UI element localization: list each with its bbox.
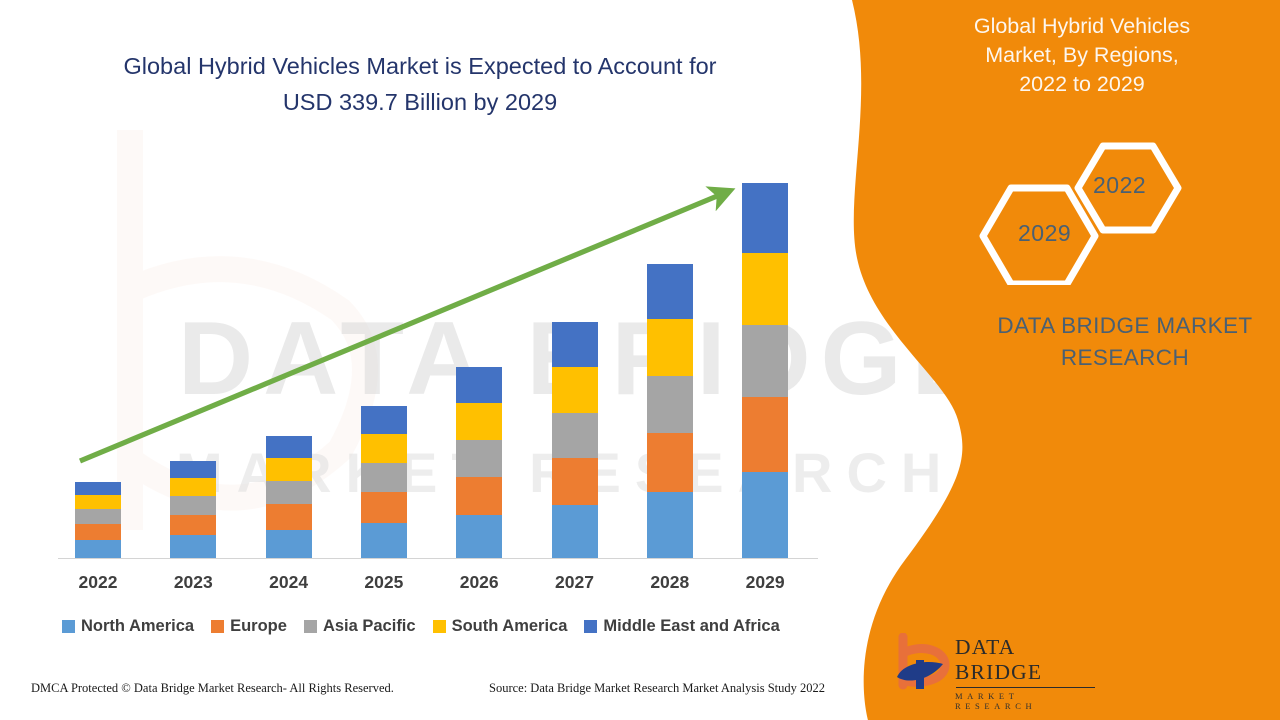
chart-legend: North AmericaEuropeAsia PacificSouth Ame…: [62, 617, 780, 636]
bar-segment[interactable]: [170, 478, 216, 496]
hexagon-badges: [975, 140, 1185, 285]
bar-segment[interactable]: [170, 515, 216, 535]
brand-name: DATA BRIDGE MARKET RESEARCH: [945, 310, 1280, 374]
bar-column[interactable]: [170, 461, 216, 559]
footer-source-note: Source: Data Bridge Market Research Mark…: [489, 681, 825, 696]
bar-column[interactable]: [75, 482, 121, 558]
bar-segment[interactable]: [552, 322, 598, 366]
x-axis-label: 2024: [251, 572, 327, 593]
bar-segment[interactable]: [552, 458, 598, 505]
bar-segment[interactable]: [361, 523, 407, 558]
bar-segment[interactable]: [552, 413, 598, 459]
bar-segment[interactable]: [361, 492, 407, 523]
bar-segment[interactable]: [75, 509, 121, 523]
bar-series-container: [0, 0, 860, 600]
bar-column[interactable]: [742, 183, 788, 558]
legend-label: Middle East and Africa: [603, 617, 779, 636]
panel-title-line-3: 2022 to 2029: [902, 70, 1262, 99]
x-axis-label: 2026: [441, 572, 517, 593]
legend-item[interactable]: South America: [433, 617, 568, 636]
legend-label: North America: [81, 617, 194, 636]
x-axis-labels: 20222023202420252026202720282029: [0, 572, 860, 598]
bar-column[interactable]: [361, 406, 407, 558]
panel-title-line-1: Global Hybrid Vehicles: [902, 12, 1262, 41]
bar-segment[interactable]: [742, 472, 788, 558]
bar-segment[interactable]: [266, 436, 312, 458]
x-axis-label: 2023: [155, 572, 231, 593]
legend-label: Asia Pacific: [323, 617, 416, 636]
infographic-root: DATA BRIDGE MARKET RESEARCH Global Hybri…: [0, 0, 1280, 720]
bar-segment[interactable]: [266, 481, 312, 505]
bar-segment[interactable]: [647, 376, 693, 432]
bar-segment[interactable]: [742, 325, 788, 397]
bar-segment[interactable]: [456, 367, 502, 402]
hexagon-start-year-label: 2022: [1093, 172, 1146, 199]
bar-segment[interactable]: [552, 505, 598, 557]
bar-segment[interactable]: [742, 253, 788, 326]
bar-segment[interactable]: [266, 458, 312, 481]
panel-title-line-2: Market, By Regions,: [902, 41, 1262, 70]
footer: DMCA Protected © Data Bridge Market Rese…: [0, 681, 860, 707]
bar-column[interactable]: [647, 264, 693, 558]
bar-column[interactable]: [552, 322, 598, 558]
bar-segment[interactable]: [456, 440, 502, 477]
bar-segment[interactable]: [742, 397, 788, 472]
bar-segment[interactable]: [456, 477, 502, 516]
bar-segment[interactable]: [456, 515, 502, 558]
x-axis-label: 2029: [727, 572, 803, 593]
bar-segment[interactable]: [647, 319, 693, 376]
bar-segment[interactable]: [361, 406, 407, 434]
chart-plot-area: 20222023202420252026202720282029: [0, 0, 860, 600]
legend-item[interactable]: Europe: [211, 617, 287, 636]
bar-segment[interactable]: [75, 495, 121, 509]
brand-name-line-1: DATA BRIDGE MARKET: [945, 310, 1280, 342]
bar-segment[interactable]: [456, 403, 502, 440]
legend-item[interactable]: Asia Pacific: [304, 617, 416, 636]
legend-label: Europe: [230, 617, 287, 636]
hexagon-end-year-label: 2029: [1018, 220, 1071, 247]
logo-sub-text: MARKET RESEARCH: [955, 691, 1103, 711]
bar-segment[interactable]: [170, 496, 216, 515]
x-axis-label: 2027: [537, 572, 613, 593]
bar-segment[interactable]: [266, 530, 312, 558]
legend-item[interactable]: Middle East and Africa: [584, 617, 779, 636]
bar-segment[interactable]: [742, 183, 788, 253]
footer-dmca-notice: DMCA Protected © Data Bridge Market Rese…: [31, 681, 394, 696]
panel-title: Global Hybrid Vehicles Market, By Region…: [902, 12, 1262, 99]
logo-text: DATA BRIDGE MARKET RESEARCH: [955, 635, 1103, 711]
legend-item[interactable]: North America: [62, 617, 194, 636]
company-logo: DATA BRIDGE MARKET RESEARCH: [893, 633, 1103, 695]
legend-swatch-icon: [211, 620, 224, 633]
logo-mark-icon: [893, 633, 955, 693]
bar-segment[interactable]: [647, 264, 693, 319]
bar-segment[interactable]: [361, 463, 407, 492]
x-axis-label: 2028: [632, 572, 708, 593]
legend-swatch-icon: [584, 620, 597, 633]
bar-segment[interactable]: [647, 433, 693, 492]
bar-column[interactable]: [266, 436, 312, 558]
legend-swatch-icon: [433, 620, 446, 633]
logo-divider: [956, 687, 1095, 688]
legend-swatch-icon: [304, 620, 317, 633]
bar-segment[interactable]: [75, 524, 121, 540]
bar-segment[interactable]: [552, 367, 598, 413]
bar-segment[interactable]: [361, 434, 407, 463]
x-axis-label: 2025: [346, 572, 422, 593]
bar-segment[interactable]: [75, 482, 121, 495]
legend-label: South America: [452, 617, 568, 636]
bar-segment[interactable]: [170, 535, 216, 558]
bar-column[interactable]: [456, 367, 502, 558]
brand-name-line-2: RESEARCH: [945, 342, 1280, 374]
bar-segment[interactable]: [266, 504, 312, 529]
bar-segment[interactable]: [75, 540, 121, 558]
bar-segment[interactable]: [647, 492, 693, 558]
logo-main-text: DATA BRIDGE: [955, 635, 1103, 685]
legend-swatch-icon: [62, 620, 75, 633]
bar-segment[interactable]: [170, 461, 216, 478]
x-axis-label: 2022: [60, 572, 136, 593]
